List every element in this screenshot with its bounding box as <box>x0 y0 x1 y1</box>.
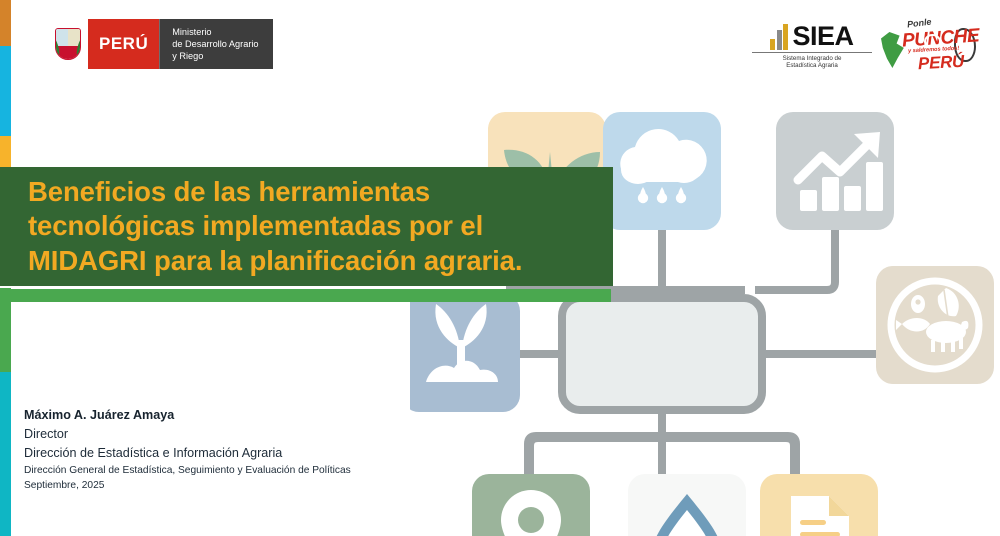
author-role: Director <box>24 425 351 444</box>
node-agriculture <box>876 266 994 384</box>
accent-bar-teal <box>0 372 11 536</box>
siea-bar-chart-icon <box>770 24 788 50</box>
accent-bar-cyan <box>0 46 11 136</box>
node-document <box>760 474 878 536</box>
author-block: Máximo A. Juárez Amaya Director Direcció… <box>24 406 351 494</box>
author-department: Dirección de Estadística e Información A… <box>24 444 351 463</box>
title-line-3: MIDAGRI para la planificación agraria. <box>28 244 522 278</box>
siea-subtitle: Sistema Integrado de Estadística Agraria <box>752 52 872 70</box>
page-title: Beneficios de las herramientas tecnológi… <box>0 175 532 277</box>
punche-line-1: Ponle <box>906 17 932 30</box>
presentation-slide: PERÚ Ministerio de Desarrollo Agrario y … <box>0 0 1000 536</box>
ministry-line-1: Ministerio <box>172 26 258 38</box>
midagri-logo: PERÚ Ministerio de Desarrollo Agrario y … <box>48 19 273 69</box>
node-central-hub <box>562 298 762 410</box>
accent-bar-green <box>0 288 11 372</box>
siea-subtitle-line-1: Sistema Integrado de <box>752 55 872 63</box>
infographic-svg <box>410 82 1000 536</box>
ministry-name-block: Ministerio de Desarrollo Agrario y Riego <box>159 19 272 69</box>
connector-branch-bottom <box>530 408 794 474</box>
peru-wordmark: PERÚ <box>88 19 159 69</box>
author-name: Máximo A. Juárez Amaya <box>24 406 351 425</box>
ponle-punche-peru-logo: Ponle PUNCHE y saldremos todos! PERÚ <box>874 14 978 76</box>
title-line-2: tecnológicas implementadas por el <box>28 209 522 243</box>
accent-bar-amber <box>0 136 11 169</box>
infographic-diagram <box>410 82 1000 536</box>
author-general-department: Dirección General de Estadística, Seguim… <box>24 463 351 479</box>
node-water-drop <box>628 474 746 536</box>
title-underline-bar <box>11 289 611 302</box>
title-line-1: Beneficios de las herramientas <box>28 175 522 209</box>
siea-subtitle-line-2: Estadística Agraria <box>752 62 872 70</box>
siea-logo: SIEA Sistema Integrado de Estadística Ag… <box>752 18 872 70</box>
node-map-pin <box>472 474 590 536</box>
node-growth-chart <box>776 112 894 230</box>
node-rain-cloud <box>603 112 721 230</box>
ministry-line-2: de Desarrollo Agrario <box>172 38 258 50</box>
node-seedling <box>410 294 520 412</box>
accent-bar-orange <box>0 0 11 46</box>
presentation-date: Septiembre, 2025 <box>24 478 351 494</box>
title-banner: Beneficios de las herramientas tecnológi… <box>0 167 613 286</box>
peru-coat-of-arms-icon <box>48 19 88 69</box>
punche-line-3: PERÚ <box>918 52 965 74</box>
ministry-line-3: y Riego <box>172 50 258 62</box>
siea-acronym: SIEA <box>792 24 853 50</box>
